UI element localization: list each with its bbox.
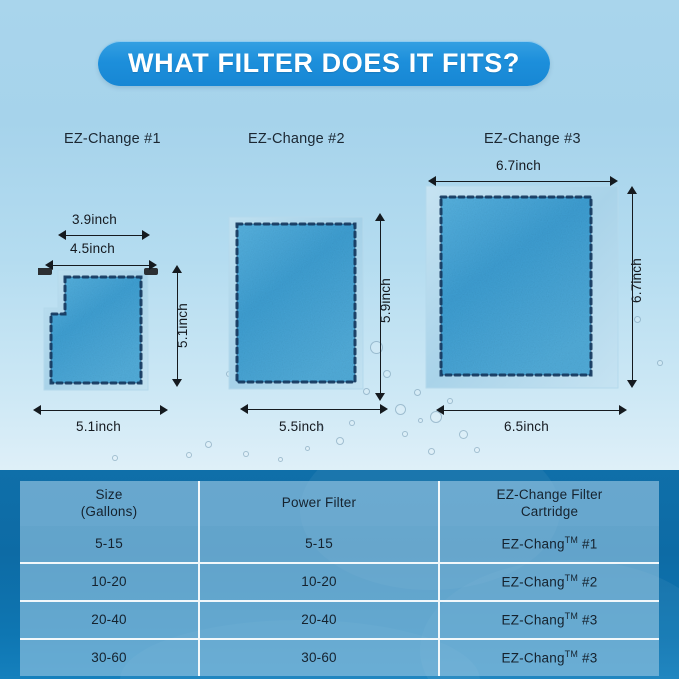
cell-size: 30-60 (20, 640, 200, 676)
table-header-cartridge: EZ-Change Filter Cartridge (440, 481, 659, 526)
table-row: 20-40 20-40 EZ-ChangTM #3 (20, 602, 659, 640)
trademark-mark: TM (565, 535, 578, 545)
dimension-label-1-height: 5.1inch (175, 303, 190, 348)
table-header-power-filter: Power Filter (200, 481, 440, 526)
cell-size: 5-15 (20, 526, 200, 564)
dimension-arrow-1-top-outer (45, 260, 157, 271)
header-cartridge-line2: Cartridge (521, 504, 578, 519)
cartridge-name: EZ-Chang (502, 612, 565, 627)
header-size-line2: (Gallons) (81, 504, 138, 519)
bubble (447, 398, 453, 404)
product-label-2: EZ-Change #2 (248, 131, 345, 147)
header-size-line1: Size (95, 487, 122, 502)
dimension-arrow-3-width (436, 405, 627, 416)
cell-size: 20-40 (20, 602, 200, 640)
bubble (474, 447, 480, 453)
filter-2-graphic (228, 216, 364, 390)
cell-size: 10-20 (20, 564, 200, 602)
cartridge-number: #3 (578, 650, 597, 665)
cartridge-name: EZ-Chang (502, 650, 565, 665)
trademark-mark: TM (565, 611, 578, 621)
product-label-1: EZ-Change #1 (64, 131, 161, 147)
bubble (112, 455, 118, 461)
dimension-arrow-3-top (428, 176, 618, 187)
bubble (428, 448, 435, 455)
cell-cartridge: EZ-ChangTM #3 (440, 602, 659, 640)
cell-power-filter: 10-20 (200, 564, 440, 602)
bubble (305, 446, 310, 451)
table-header-row: Size (Gallons) Power Filter EZ-Change Fi… (20, 481, 659, 526)
filter-cartridge-3 (425, 185, 619, 389)
bubble (363, 388, 370, 395)
dimension-arrow-2-width (240, 404, 388, 415)
bubble (186, 452, 192, 458)
title-pill: WHAT FILTER DOES IT FITS? (98, 41, 550, 86)
cell-power-filter: 20-40 (200, 602, 440, 640)
compatibility-table: Size (Gallons) Power Filter EZ-Change Fi… (20, 481, 659, 676)
bubble (402, 431, 408, 437)
dimension-label-3-height: 6.7inch (629, 258, 644, 303)
dimension-label-1-width: 5.1inch (76, 419, 121, 434)
dimension-arrow-1-width (33, 405, 168, 416)
bubble (414, 389, 421, 396)
compatibility-table-section: Size (Gallons) Power Filter EZ-Change Fi… (0, 470, 679, 679)
dimension-arrow-1-top-inner (58, 230, 150, 241)
header-power-filter-line1: Power Filter (282, 495, 356, 510)
bubble (349, 420, 355, 426)
filter-cartridge-2 (228, 216, 364, 390)
trademark-mark: TM (565, 573, 578, 583)
cartridge-name: EZ-Chang (502, 536, 565, 551)
cell-cartridge: EZ-ChangTM #2 (440, 564, 659, 602)
filter-3-graphic (425, 185, 619, 389)
header-cartridge-line1: EZ-Change Filter (497, 487, 603, 502)
cell-power-filter: 5-15 (200, 526, 440, 564)
table-row: 30-60 30-60 EZ-ChangTM #3 (20, 640, 659, 676)
dimension-label-3-width: 6.5inch (504, 419, 549, 434)
cartridge-number: #2 (578, 574, 597, 589)
cell-power-filter: 30-60 (200, 640, 440, 676)
page-title: WHAT FILTER DOES IT FITS? (128, 48, 520, 79)
bubble (205, 441, 212, 448)
bubble (278, 457, 283, 462)
bubble (336, 437, 344, 445)
dimension-label-3-top: 6.7inch (496, 158, 541, 173)
infographic-page: WHAT FILTER DOES IT FITS? EZ-Change #1 E… (0, 0, 679, 679)
bubble (459, 430, 468, 439)
product-label-3: EZ-Change #3 (484, 131, 581, 147)
cartridge-number: #3 (578, 612, 597, 627)
title-banner: WHAT FILTER DOES IT FITS? (0, 0, 679, 110)
bubble (395, 404, 406, 415)
dimension-label-2-width: 5.5inch (279, 419, 324, 434)
bubble (657, 360, 663, 366)
cartridge-number: #1 (578, 536, 597, 551)
cartridge-name: EZ-Chang (502, 574, 565, 589)
trademark-mark: TM (565, 649, 578, 659)
cell-cartridge: EZ-ChangTM #1 (440, 526, 659, 564)
table-header-size: Size (Gallons) (20, 481, 200, 526)
cell-cartridge: EZ-ChangTM #3 (440, 640, 659, 676)
dimension-label-2-height: 5.9inch (378, 278, 393, 323)
dimension-label-1-top-outer: 4.5inch (70, 241, 115, 256)
dimension-label-1-top-inner: 3.9inch (72, 212, 117, 227)
table-row: 5-15 5-15 EZ-ChangTM #1 (20, 526, 659, 564)
bubble (243, 451, 249, 457)
filter-cartridge-1 (38, 262, 168, 398)
bubble (418, 418, 423, 423)
table-row: 10-20 10-20 EZ-ChangTM #2 (20, 564, 659, 602)
filter-1-graphic (38, 262, 168, 398)
